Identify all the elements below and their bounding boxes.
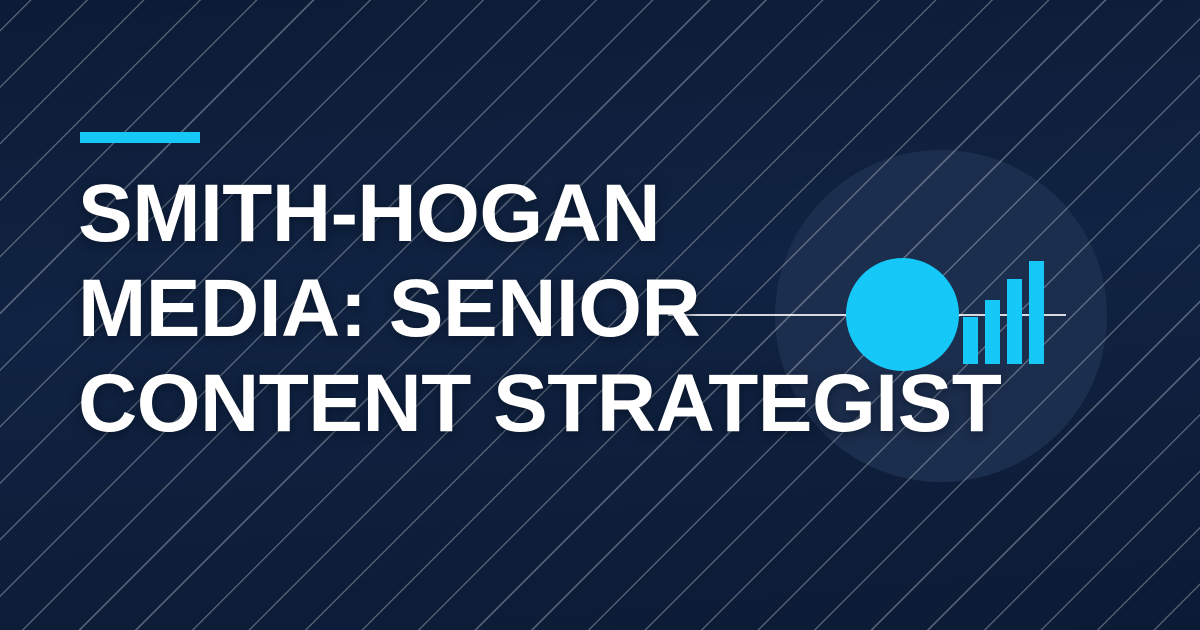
bar-chart-icon [963,256,1046,376]
logo-bar-4 [1029,261,1044,364]
circle-icon [846,258,959,371]
brand-logo [846,256,1046,376]
social-share-card: SMITH-HOGAN MEDIA: SENIOR CONTENT STRATE… [0,0,1200,630]
card-content: SMITH-HOGAN MEDIA: SENIOR CONTENT STRATE… [0,0,1200,630]
logo-bar-3 [1007,279,1022,364]
logo-bar-1 [963,317,978,364]
logo-bar-2 [985,300,1000,364]
accent-bar [80,132,200,143]
